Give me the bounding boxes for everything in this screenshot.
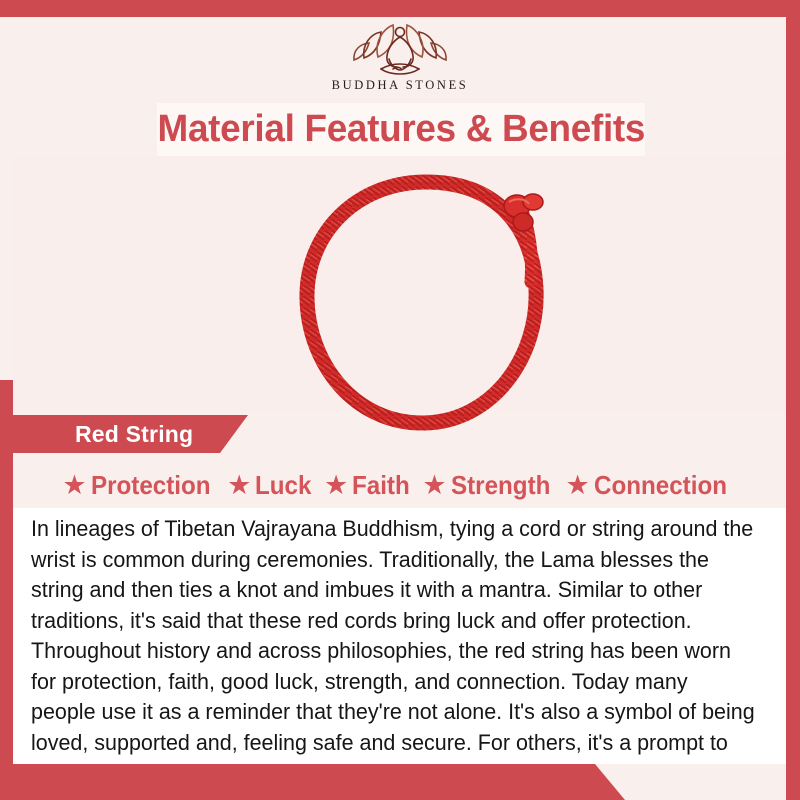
star-icon: ★	[422, 472, 446, 499]
star-icon: ★	[227, 472, 251, 499]
feature-item-luck: ★ Luck	[227, 470, 316, 501]
feature-list: ★ Protection ★ Luck ★ Faith ★ Strength ★…	[13, 462, 786, 508]
feature-label-protection: Protection	[91, 470, 211, 501]
brand-wordmark: BUDDHA STONES	[332, 78, 469, 93]
feature-label-strength: Strength	[451, 470, 550, 501]
product-hero	[13, 156, 786, 411]
left-accent-strip	[0, 380, 13, 800]
feature-item-protection: ★ Protection	[62, 470, 219, 501]
infographic-page: BUDDHA STONES Material Features & Benefi…	[0, 0, 800, 800]
feature-item-faith: ★ Faith	[324, 470, 414, 501]
right-accent-strip	[786, 17, 800, 800]
bottom-accent-bar	[0, 764, 625, 800]
top-accent-band	[0, 0, 800, 17]
feature-label-luck: Luck	[255, 470, 311, 501]
feature-label-connection: Connection	[594, 470, 727, 501]
feature-item-strength: ★ Strength	[422, 470, 557, 501]
red-braided-string-bracelet	[261, 164, 591, 449]
star-icon: ★	[324, 472, 348, 499]
feature-label-faith: Faith	[352, 470, 410, 501]
star-icon: ★	[565, 472, 589, 499]
lotus-meditation-icon	[345, 17, 455, 77]
description-panel: In lineages of Tibetan Vajrayana Buddhis…	[13, 508, 786, 764]
description-text: In lineages of Tibetan Vajrayana Buddhis…	[31, 514, 757, 789]
product-label-banner: Red String	[13, 415, 248, 453]
page-title: Material Features & Benefits	[157, 108, 645, 151]
product-label: Red String	[13, 421, 193, 448]
title-banner: Material Features & Benefits	[157, 103, 645, 156]
star-icon: ★	[62, 472, 86, 499]
feature-item-connection: ★ Connection	[565, 470, 736, 501]
brand-logo-block: BUDDHA STONES	[0, 17, 800, 100]
